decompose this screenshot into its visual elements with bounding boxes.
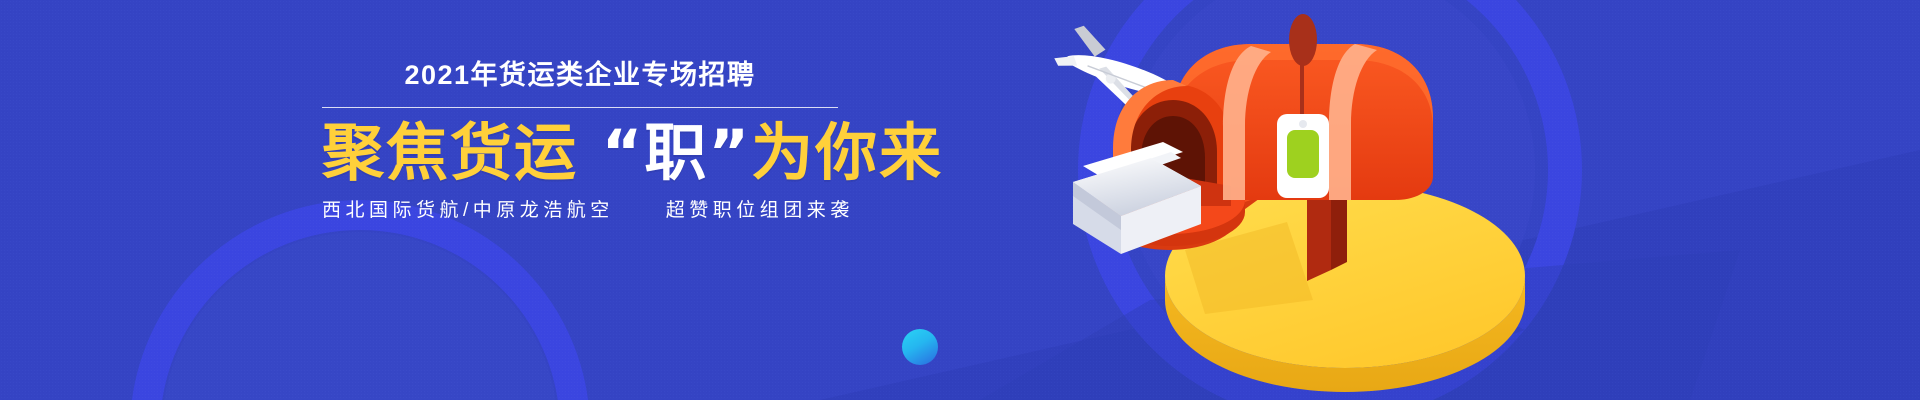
cyan-dot-shape	[902, 329, 938, 365]
banner-text-block: 2021年货运类企业专场招聘 聚焦货运 “职”为你来 西北国际货航/中原龙浩航空…	[322, 62, 942, 220]
background-decoration-layer	[0, 0, 1920, 400]
headline-part-2: “职”	[602, 116, 752, 189]
banner-subtitle-row: 西北国际货航/中原龙浩航空 超赞职位组团来袭	[322, 201, 942, 220]
promo-banner: 2021年货运类企业专场招聘 聚焦货运 “职”为你来 西北国际货航/中原龙浩航空…	[0, 0, 1920, 400]
banner-headline: 聚焦货运 “职”为你来	[322, 118, 942, 187]
mailbox-illustration	[1055, 0, 1615, 400]
banner-eyebrow: 2021年货运类企业专场招聘	[324, 62, 836, 89]
price-tag-icon	[1277, 114, 1329, 198]
subtitle-tagline: 超赞职位组团来袭	[666, 201, 854, 220]
headline-part-3: 为你来	[751, 116, 943, 189]
subtitle-companies: 西北国际货航/中原龙浩航空	[322, 201, 614, 220]
divider-rule	[322, 107, 838, 108]
headline-part-1: 聚焦货运	[322, 116, 602, 189]
